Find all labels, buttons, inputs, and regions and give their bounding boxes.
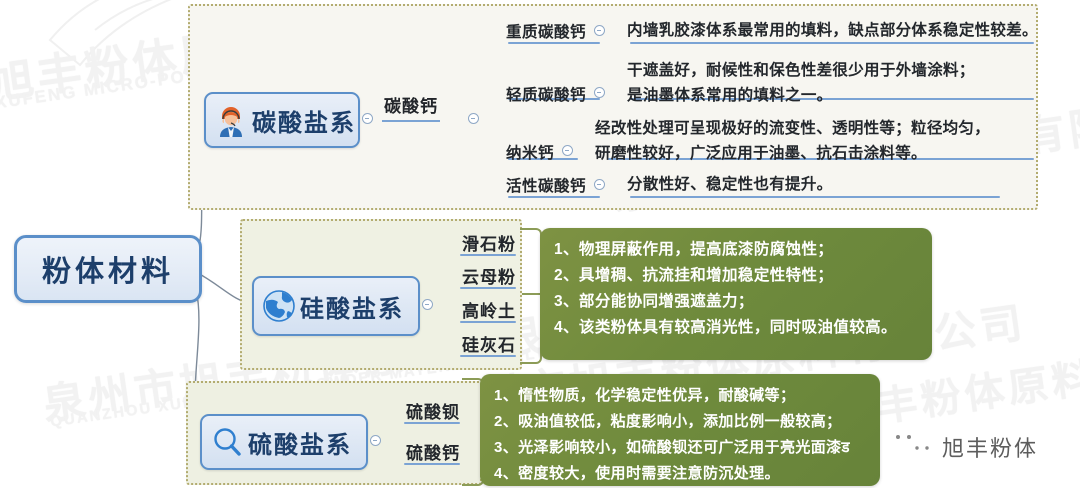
note-panel-sulfate: 1、惰性物质，化学稳定性优异，耐酸碱等； 2、吸油值较低，粘度影响小，添加比例一…: [480, 374, 880, 486]
branch-label-sulfate: 硫酸盐系: [248, 425, 352, 460]
magnifier-icon: [210, 425, 244, 459]
wechat-badge[interactable]: 旭丰粉体: [886, 424, 1038, 469]
joint-sulfate: [370, 435, 381, 446]
leaf-desc-light-caco3-line1: 干遮盖好，耐候性和保色性差很少用于外墙涂料；: [627, 58, 975, 83]
branch-label-carbonate: 碳酸盐系: [252, 103, 356, 138]
leaf-row-light-caco3[interactable]: 轻质碳酸钙 干遮盖好，耐候性和保色性差很少用于外墙涂料； 是油墨体系常用的填料之…: [506, 58, 975, 108]
root-node-powder-material[interactable]: 粉体材料: [14, 235, 202, 303]
branch-node-silicate[interactable]: 硅酸盐系: [252, 276, 420, 336]
note-panel-silicate: 1、物理屏蔽作用，提高底漆防腐蚀性； 2、具增稠、抗流挂和增加稳定性特性； 3、…: [540, 228, 932, 360]
leaf-key-heavy-caco3: 重质碳酸钙: [506, 20, 586, 42]
joint-light-caco3: [594, 87, 605, 98]
leaf-desc-nano-ca-line2: 研磨性较好，广泛应用于油墨、抗石击涂料等。: [595, 141, 990, 166]
branch-node-carbonate[interactable]: 碳酸盐系: [204, 92, 360, 148]
note-silicate-item-3: 3、部分能协同增强遮盖力；: [554, 289, 918, 315]
note-silicate-item-4: 4、该类粉体具有较高消光性，同时吸油值较高。: [554, 315, 918, 341]
note-silicate-item-2: 2、具增稠、抗流挂和增加稳定性特性；: [554, 263, 918, 289]
leaf-key-active-caco3: 活性碳酸钙: [506, 174, 586, 196]
leaf-kaolin[interactable]: 高岭土: [462, 297, 516, 322]
leaf-wollastonite[interactable]: 硅灰石: [462, 331, 516, 356]
leaf-talc-powder[interactable]: 滑石粉: [462, 230, 516, 255]
leaf-key-light-caco3: 轻质碳酸钙: [506, 83, 586, 105]
leaf-calcium-sulfate[interactable]: 硫酸钙: [406, 439, 460, 464]
joint-calcium-carbonate: [468, 113, 479, 124]
note-sulfate-item-2: 2、吸油值较低，粘度影响小，添加比例一般较高；: [494, 409, 866, 435]
joint-nano-ca: [562, 145, 573, 156]
leaf-row-nano-ca[interactable]: 纳米钙 经改性处理可呈现极好的流变性、透明性等；粒径均匀， 研磨性较好，广泛应用…: [506, 116, 990, 166]
leaf-barium-sulfate[interactable]: 硫酸钡: [406, 398, 460, 423]
leaf-desc-heavy-caco3: 内墙乳胶漆体系最常用的填料，缺点部分体系稳定性较差。: [627, 18, 1038, 43]
joint-active-caco3: [594, 179, 605, 190]
globe-icon: [262, 289, 296, 323]
bracket-silicate-note: [520, 228, 542, 364]
note-silicate-item-1: 1、物理屏蔽作用，提高底漆防腐蚀性；: [554, 237, 918, 263]
note-sulfate-item-3: 3、光泽影响较小，如硫酸钡还可广泛用于亮光面漆ड: [494, 435, 866, 461]
leaf-row-heavy-caco3[interactable]: 重质碳酸钙 内墙乳胶漆体系最常用的填料，缺点部分体系稳定性较差。: [506, 18, 1038, 43]
mindmap-canvas: 旭丰粉体原料 XUFENG MICRO-POWDER 旭丰粉体原料 XUFENG…: [0, 0, 1080, 488]
joint-silicate: [422, 299, 433, 310]
wechat-icon: [886, 424, 936, 469]
note-sulfate-item-1: 1、惰性物质，化学稳定性优异，耐酸碱等；: [494, 383, 866, 409]
leaf-key-nano-ca: 纳米钙: [506, 141, 554, 163]
root-node-label: 粉体材料: [42, 248, 174, 290]
leaf-desc-active-caco3: 分散性好、稳定性也有提升。: [627, 172, 832, 197]
sub-node-calcium-carbonate[interactable]: 碳酸钙: [382, 92, 440, 122]
joint-carbonate: [362, 113, 373, 124]
note-sulfate-item-4: 4、密度较大，使用时需要注意防沉处理。: [494, 461, 866, 487]
sub-node-label-calcium-carbonate: 碳酸钙: [382, 92, 440, 122]
leaf-desc-light-caco3-line2: 是油墨体系常用的填料之一。: [627, 83, 975, 108]
joint-heavy-caco3: [594, 25, 605, 36]
wechat-account-name: 旭丰粉体: [942, 431, 1038, 463]
branch-label-silicate: 硅酸盐系: [300, 289, 404, 324]
leaf-mica-powder[interactable]: 云母粉: [462, 263, 516, 288]
leaf-desc-nano-ca-line1: 经改性处理可呈现极好的流变性、透明性等；粒径均匀，: [595, 116, 990, 141]
branch-node-sulfate[interactable]: 硫酸盐系: [200, 414, 368, 470]
headset-operator-icon: [214, 103, 248, 137]
leaf-row-active-caco3[interactable]: 活性碳酸钙 分散性好、稳定性也有提升。: [506, 172, 832, 197]
